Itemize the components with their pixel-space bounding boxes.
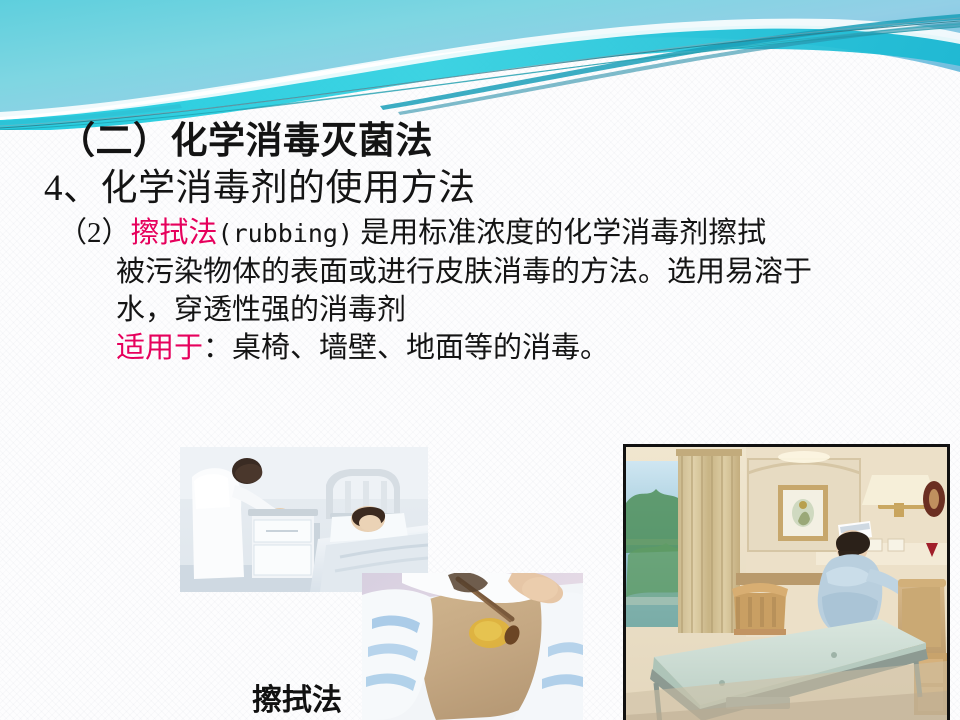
definition-line-1: （2）擦拭法(rubbing) 是用标准浓度的化学消毒剂擦拭: [58, 214, 946, 253]
hospital-room-illustration: [626, 447, 947, 720]
definition-line-3: 水，穿透性强的消毒剂: [58, 291, 946, 329]
photo-skin-disinfection-swab: [362, 573, 583, 720]
definition-paragraph: （2）擦拭法(rubbing) 是用标准浓度的化学消毒剂擦拭 被污染物体的表面或…: [58, 214, 946, 329]
slide-text-area: （二）化学消毒灭菌法 4、化学消毒剂的使用方法 （2）擦拭法(rubbing) …: [0, 118, 960, 367]
definition-line-2: 被污染物体的表面或进行皮肤消毒的方法。选用易溶于: [58, 253, 946, 291]
photo-nurse-wiping-bedside-table: [180, 447, 428, 592]
term-latin: (rubbing): [218, 219, 353, 248]
presentation-slide: （二）化学消毒灭菌法 4、化学消毒剂的使用方法 （2）擦拭法(rubbing) …: [0, 0, 960, 720]
definition-text-1: 是用标准浓度的化学消毒剂擦拭: [360, 217, 766, 249]
page-subtitle: 4、化学消毒剂的使用方法: [44, 165, 960, 212]
photo-caption: 擦拭法: [252, 684, 342, 718]
skin-disinfection-illustration: [362, 573, 583, 720]
applies-line: 适用于：桌椅、墙壁、地面等的消毒。: [58, 329, 946, 367]
body-text-block: （2）擦拭法(rubbing) 是用标准浓度的化学消毒剂擦拭 被污染物体的表面或…: [0, 214, 960, 367]
applies-label: 适用于: [116, 332, 203, 364]
page-title: （二）化学消毒灭菌法: [58, 118, 960, 164]
bedside-table-illustration: [180, 447, 428, 592]
wave-graphic: [0, 0, 960, 130]
photo-nurse-wiping-hospital-bed: [623, 444, 950, 720]
item-number: （2）: [58, 217, 131, 249]
applies-text: ：桌椅、墙壁、地面等的消毒。: [203, 332, 609, 364]
header-wave-banner: [0, 0, 960, 130]
applies-paragraph: 适用于：桌椅、墙壁、地面等的消毒。: [58, 329, 946, 367]
term-highlight: 擦拭法: [131, 217, 218, 249]
